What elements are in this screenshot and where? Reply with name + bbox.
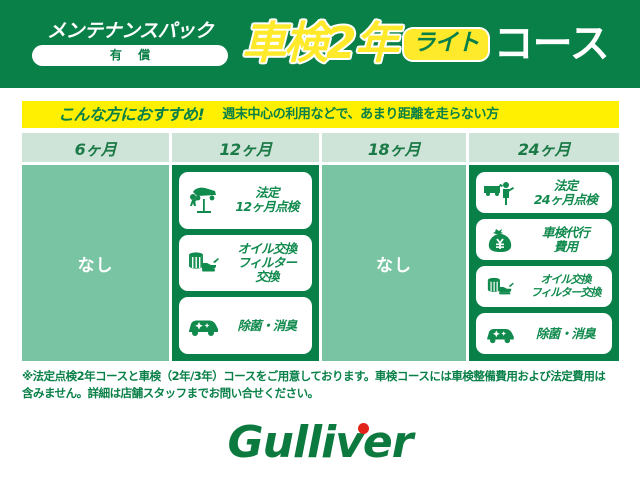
service-label: オイル交換フィルター交換 <box>523 274 608 299</box>
gulliver-logo-dot-icon <box>358 423 369 434</box>
recommendation-headline: こんな方におすすめ! <box>58 107 204 123</box>
car-inspection-staff-icon <box>480 180 520 206</box>
brand-logo-area: Gulliver <box>0 415 640 470</box>
column-24-months: 24ヶ月 法定24ヶ月点検 <box>469 133 619 361</box>
service-label: オイル交換フィルター交換 <box>226 242 308 284</box>
service-label: 法定24ヶ月点検 <box>523 179 608 207</box>
maintenance-schedule-table: 6ヶ月 なし 12ヶ月 <box>22 133 619 361</box>
column-header-24-months: 24ヶ月 <box>469 133 619 162</box>
column-body-18-months: なし <box>322 162 466 361</box>
oil-filter-change-icon <box>183 248 223 278</box>
footnote-line-2: 含みません。詳細は店舗スタッフまでお問い合せください。 <box>22 385 622 402</box>
service-item[interactable]: 法定24ヶ月点検 <box>476 172 612 213</box>
column-6-months: 6ヶ月 なし <box>22 133 172 361</box>
paid-badge: 有 償 <box>32 45 228 66</box>
column-12-months: 12ヶ月 法定1 <box>172 133 322 361</box>
service-item[interactable]: 法定12ヶ月点検 <box>179 172 312 229</box>
recommendation-description: 週末中心の利用などで、あまり距離を走らない方 <box>222 108 498 121</box>
column-header-18-months: 18ヶ月 <box>322 133 466 162</box>
gulliver-logo: Gulliver <box>228 421 413 465</box>
maintenance-pack-title: メンテナンスパック <box>47 22 213 41</box>
column-header-6-months: 6ヶ月 <box>22 133 169 162</box>
service-label: 除菌・消臭 <box>226 319 308 333</box>
maintenance-pack-group: メンテナンスパック 有 償 <box>24 22 236 66</box>
car-sanitize-icon <box>183 314 223 338</box>
column-18-months: 18ヶ月 なし <box>322 133 469 361</box>
money-bag-yen-icon <box>480 226 520 254</box>
course-label: コース <box>494 24 609 64</box>
car-sanitize-icon <box>480 323 520 345</box>
gulliver-logo-text: Gulliver <box>228 417 413 468</box>
shaken-2year-title: 車検2年 <box>242 22 397 66</box>
service-item[interactable]: オイル交換フィルター交換 <box>476 266 612 307</box>
service-item[interactable]: 車検代行費用 <box>476 219 612 260</box>
oil-filter-change-icon <box>480 274 520 300</box>
header-band: メンテナンスパック 有 償 車検2年 ライト コース <box>0 0 640 88</box>
service-item[interactable]: オイル交換フィルター交換 <box>179 235 312 292</box>
footnote-line-1: ※法定点検2年コースと車検（2年/3年）コースをご用意しております。車検コースに… <box>22 368 622 385</box>
light-badge: ライト <box>404 29 488 60</box>
service-item[interactable]: 除菌・消臭 <box>179 297 312 354</box>
service-item[interactable]: 除菌・消臭 <box>476 313 612 354</box>
service-label: 車検代行費用 <box>523 226 608 254</box>
no-service-label: なし <box>78 251 114 276</box>
recommendation-banner: こんな方におすすめ! 週末中心の利用などで、あまり距離を走らない方 <box>22 101 619 128</box>
service-label: 法定12ヶ月点検 <box>226 186 308 214</box>
service-label: 除菌・消臭 <box>523 327 608 341</box>
column-body-12-months: 法定12ヶ月点検 <box>172 162 319 361</box>
column-header-12-months: 12ヶ月 <box>172 133 319 162</box>
column-body-24-months: 法定24ヶ月点検 車検代行費用 <box>469 162 619 361</box>
footnote: ※法定点検2年コースと車検（2年/3年）コースをご用意しております。車検コースに… <box>22 368 622 403</box>
course-title-group: 車検2年 ライト コース <box>242 22 609 66</box>
column-body-6-months: なし <box>22 162 169 361</box>
car-lift-inspection-icon <box>183 185 223 215</box>
no-service-label: なし <box>376 251 412 276</box>
